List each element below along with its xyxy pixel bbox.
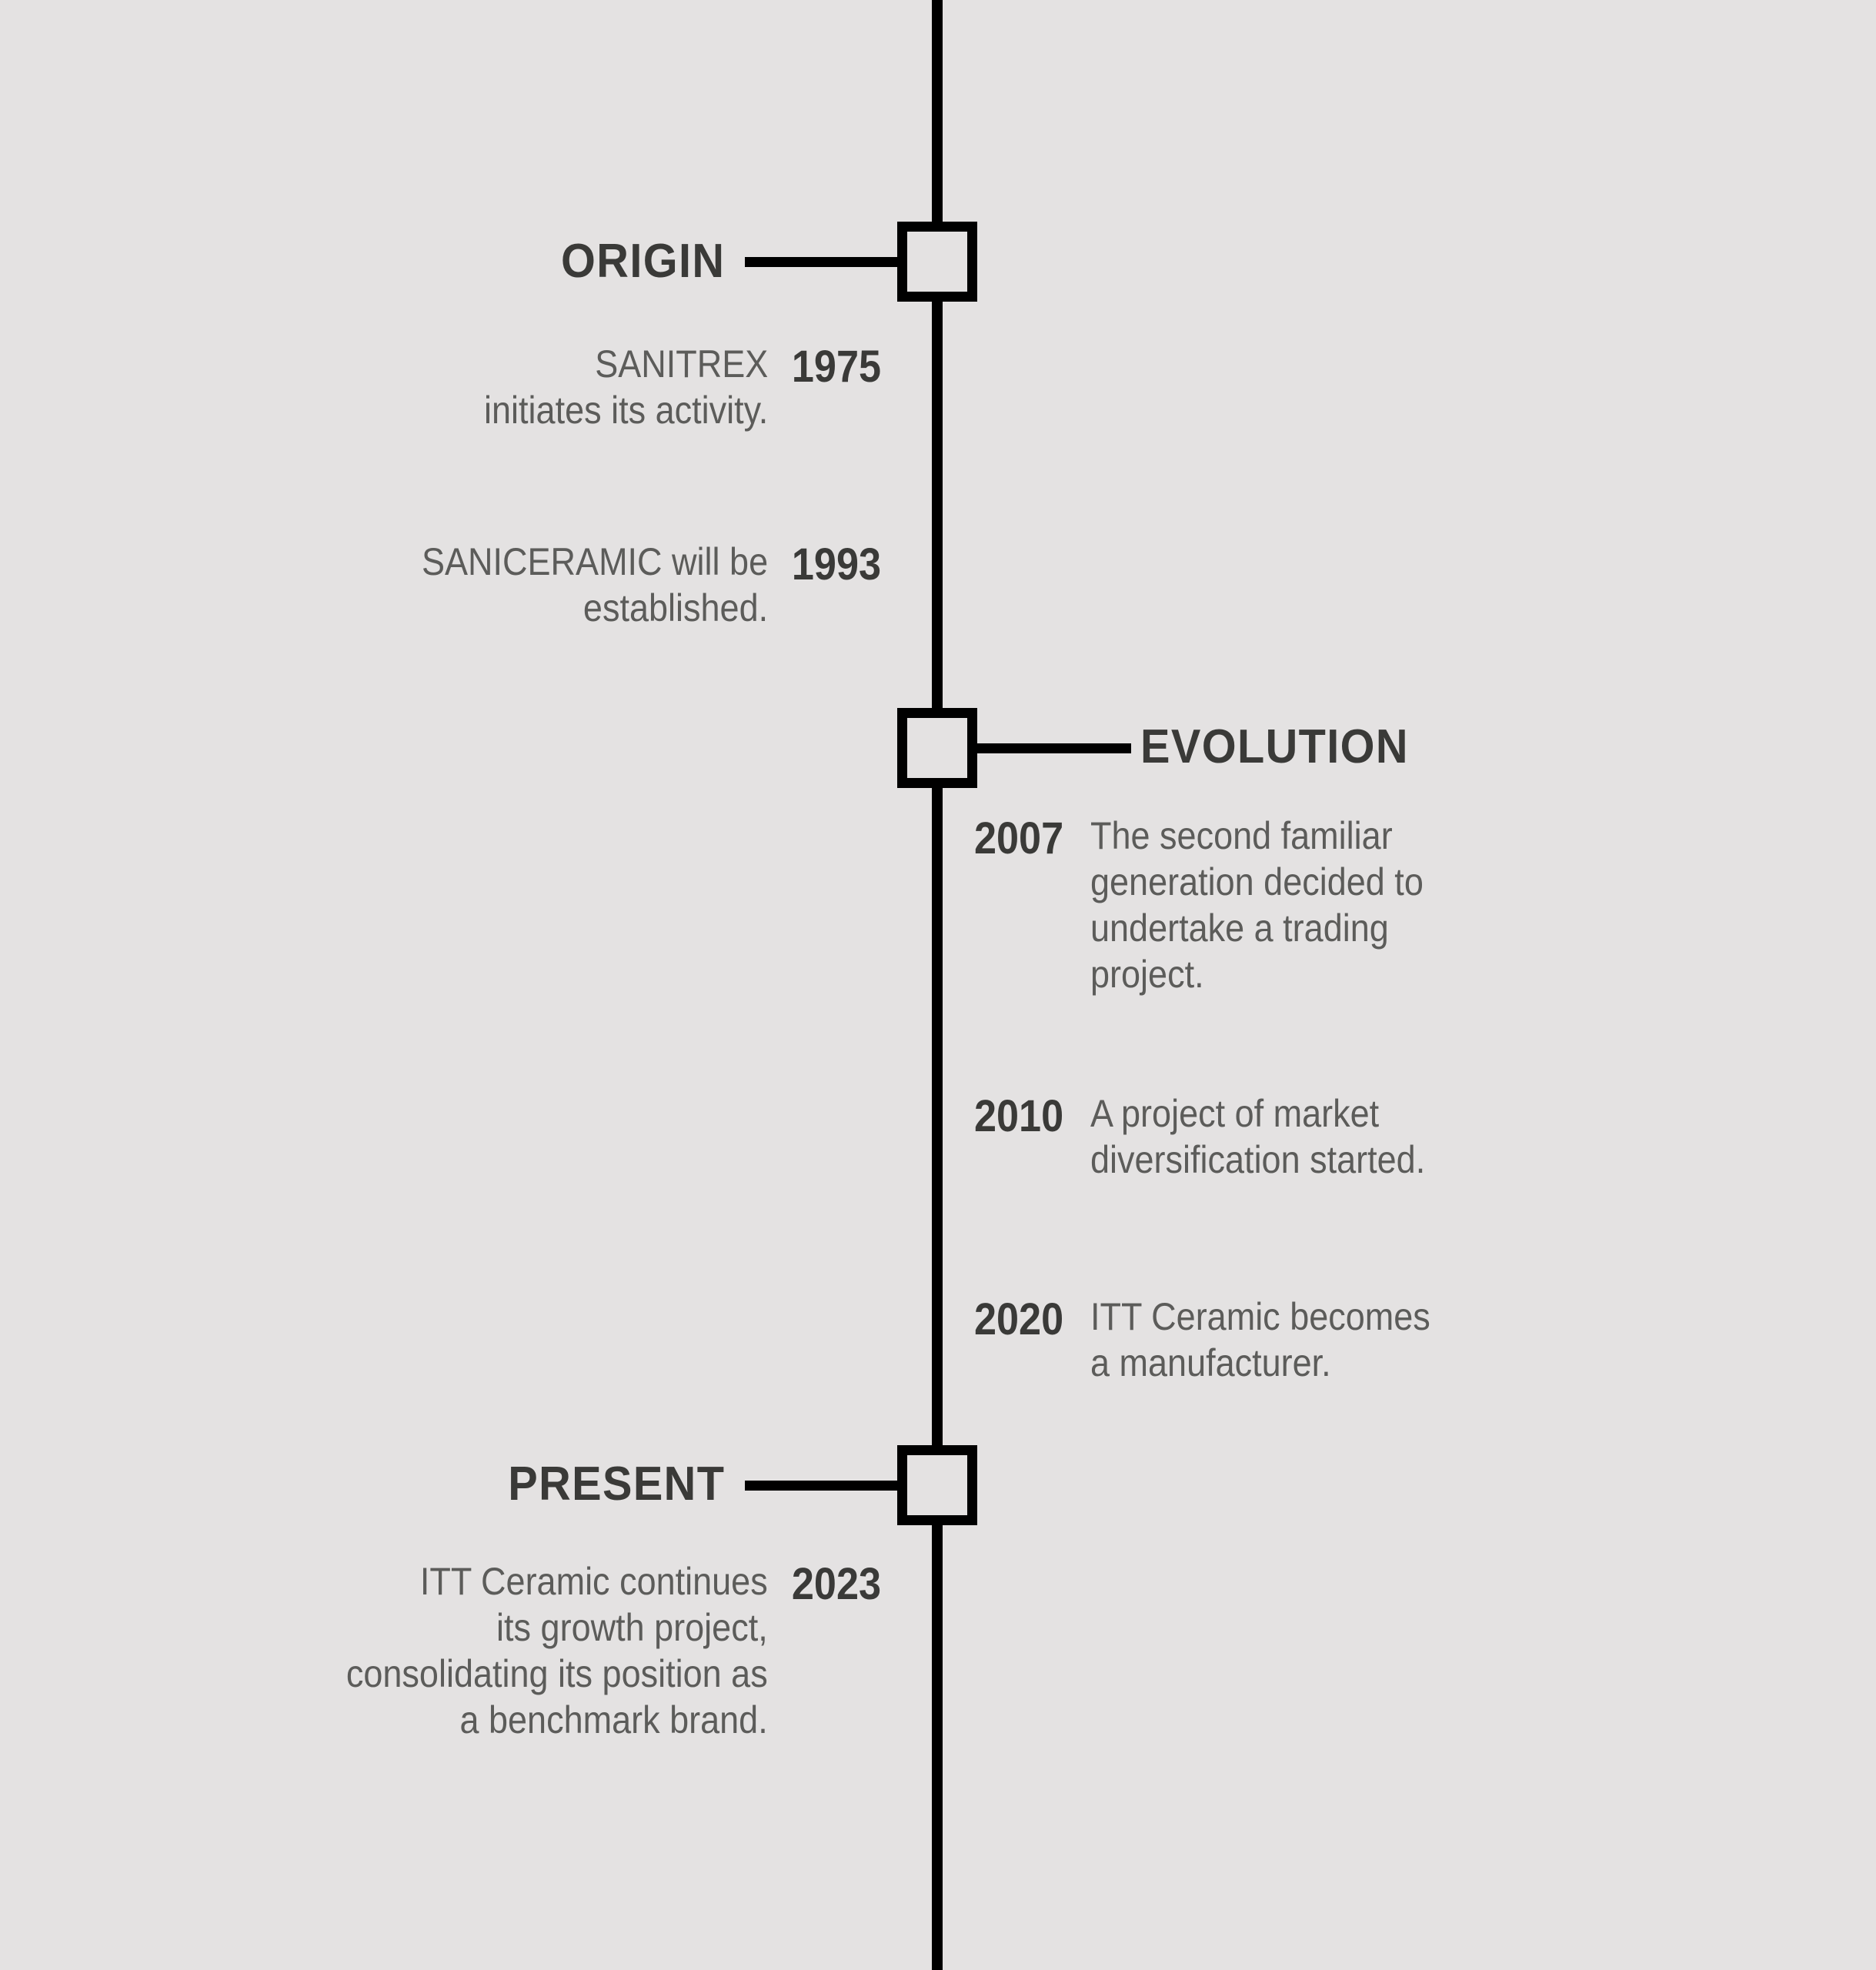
entry-year-2020: 2020 bbox=[974, 1294, 1063, 1345]
entry-year-2023: 2023 bbox=[792, 1558, 881, 1610]
timeline-infographic: ORIGIN SANITREXinitiates its activity. 1… bbox=[0, 0, 1876, 1970]
entry-year-1975: 1975 bbox=[792, 341, 881, 392]
section-heading-present: PRESENT bbox=[508, 1461, 725, 1508]
entry-year-2010: 2010 bbox=[974, 1090, 1063, 1142]
connector-line-evolution bbox=[977, 743, 1131, 753]
timeline-entry-2020: 2020 ITT Ceramic becomesa manufacturer. bbox=[974, 1294, 1821, 1386]
connector-line-origin bbox=[745, 257, 900, 267]
entry-year-2007: 2007 bbox=[974, 813, 1063, 864]
timeline-entry-1993: SANICERAMIC will beestablished. 1993 bbox=[112, 539, 881, 631]
entry-description-2010: A project of marketdiversification start… bbox=[1090, 1090, 1425, 1183]
entry-description-2020: ITT Ceramic becomesa manufacturer. bbox=[1090, 1294, 1430, 1386]
section-heading-origin: ORIGIN bbox=[561, 238, 725, 285]
entry-description-2023: ITT Ceramic continuesits growth project,… bbox=[346, 1558, 768, 1743]
timeline-node-evolution[interactable] bbox=[897, 708, 977, 788]
entry-description-2007: The second familiargeneration decided to… bbox=[1090, 813, 1424, 997]
entry-year-1993: 1993 bbox=[792, 539, 881, 590]
timeline-entry-2010: 2010 A project of marketdiversification … bbox=[974, 1090, 1821, 1183]
timeline-node-origin[interactable] bbox=[897, 222, 977, 302]
entry-description-1993: SANICERAMIC will beestablished. bbox=[422, 539, 768, 631]
entry-description-1975: SANITREXinitiates its activity. bbox=[484, 341, 768, 433]
timeline-entry-2007: 2007 The second familiargeneration decid… bbox=[974, 813, 1821, 997]
connector-line-present bbox=[745, 1481, 900, 1491]
timeline-entry-1975: SANITREXinitiates its activity. 1975 bbox=[112, 341, 881, 433]
timeline-entry-2023: ITT Ceramic continuesits growth project,… bbox=[0, 1558, 881, 1743]
timeline-node-present[interactable] bbox=[897, 1445, 977, 1525]
section-heading-evolution: EVOLUTION bbox=[1140, 723, 1409, 771]
